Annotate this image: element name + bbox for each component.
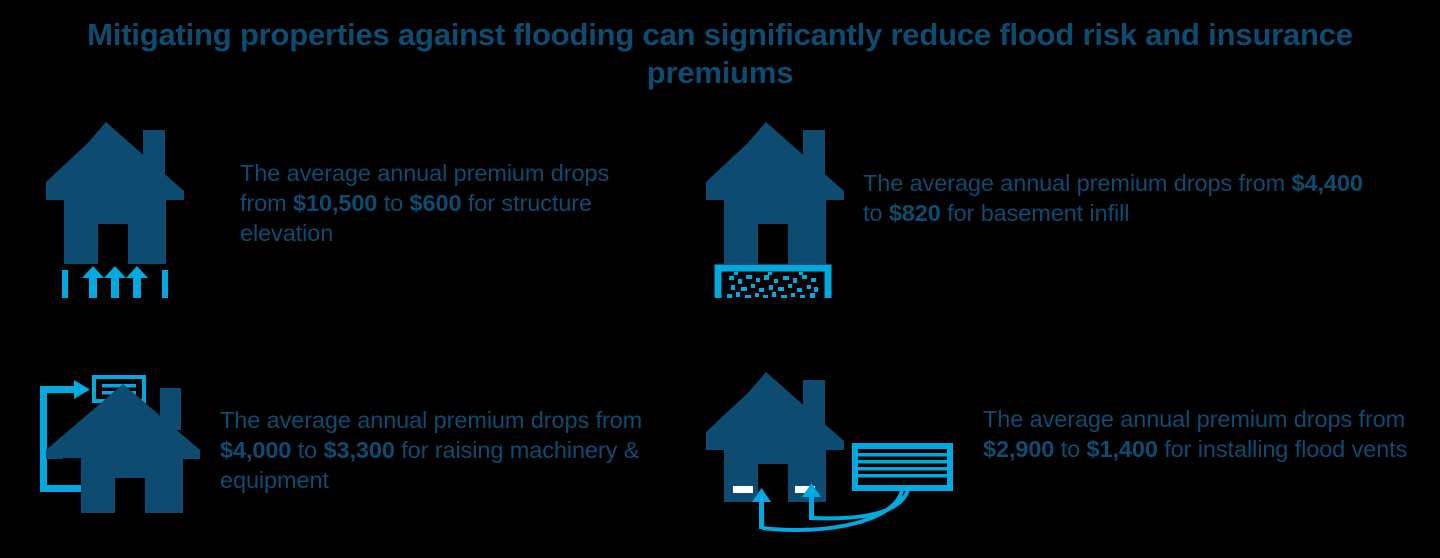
premium-before-value: $2,900 — [983, 436, 1054, 462]
blurb-lead: The average annual premium drops from — [863, 170, 1292, 196]
blurb-middle: to — [863, 200, 889, 226]
blurb-raising-machinery: The average annual premium drops from $4… — [220, 405, 670, 495]
premium-after-value: $600 — [410, 190, 462, 216]
panel-structure-elevation: The average annual premium drops from $1… — [40, 118, 680, 318]
blurb-trail: for basement infill — [941, 200, 1130, 226]
house-with-flood-vent-icon — [700, 368, 965, 548]
premium-before-value: $4,000 — [220, 437, 291, 463]
blurb-flood-vents: The average annual premium drops from $2… — [983, 404, 1433, 464]
house-with-gravel-infill-icon — [700, 118, 850, 303]
panel-basement-infill: The average annual premium drops from $4… — [700, 118, 1400, 318]
house-with-raised-hvac-unit-icon — [28, 368, 213, 518]
blurb-lead: The average annual premium drops from — [220, 407, 642, 433]
page-title: Mitigating properties against flooding c… — [50, 16, 1390, 92]
premium-after-value: $3,300 — [324, 437, 395, 463]
house-on-stilts-with-up-arrows-icon — [40, 118, 190, 303]
blurb-basement-infill: The average annual premium drops from $4… — [863, 168, 1383, 228]
blurb-trail: for installing flood vents — [1158, 436, 1407, 462]
blurb-lead: The average annual premium drops from — [983, 406, 1405, 432]
panel-flood-vents: The average annual premium drops from $2… — [700, 368, 1430, 558]
premium-after-value: $820 — [889, 200, 941, 226]
blurb-structure-elevation: The average annual premium drops from $1… — [240, 158, 660, 248]
panel-raising-machinery: The average annual premium drops from $4… — [28, 368, 678, 558]
premium-before-value: $4,400 — [1292, 170, 1363, 196]
blurb-middle: to — [1054, 436, 1086, 462]
blurb-middle: to — [291, 437, 323, 463]
blurb-middle: to — [377, 190, 409, 216]
premium-before-value: $10,500 — [293, 190, 377, 216]
premium-after-value: $1,400 — [1087, 436, 1158, 462]
